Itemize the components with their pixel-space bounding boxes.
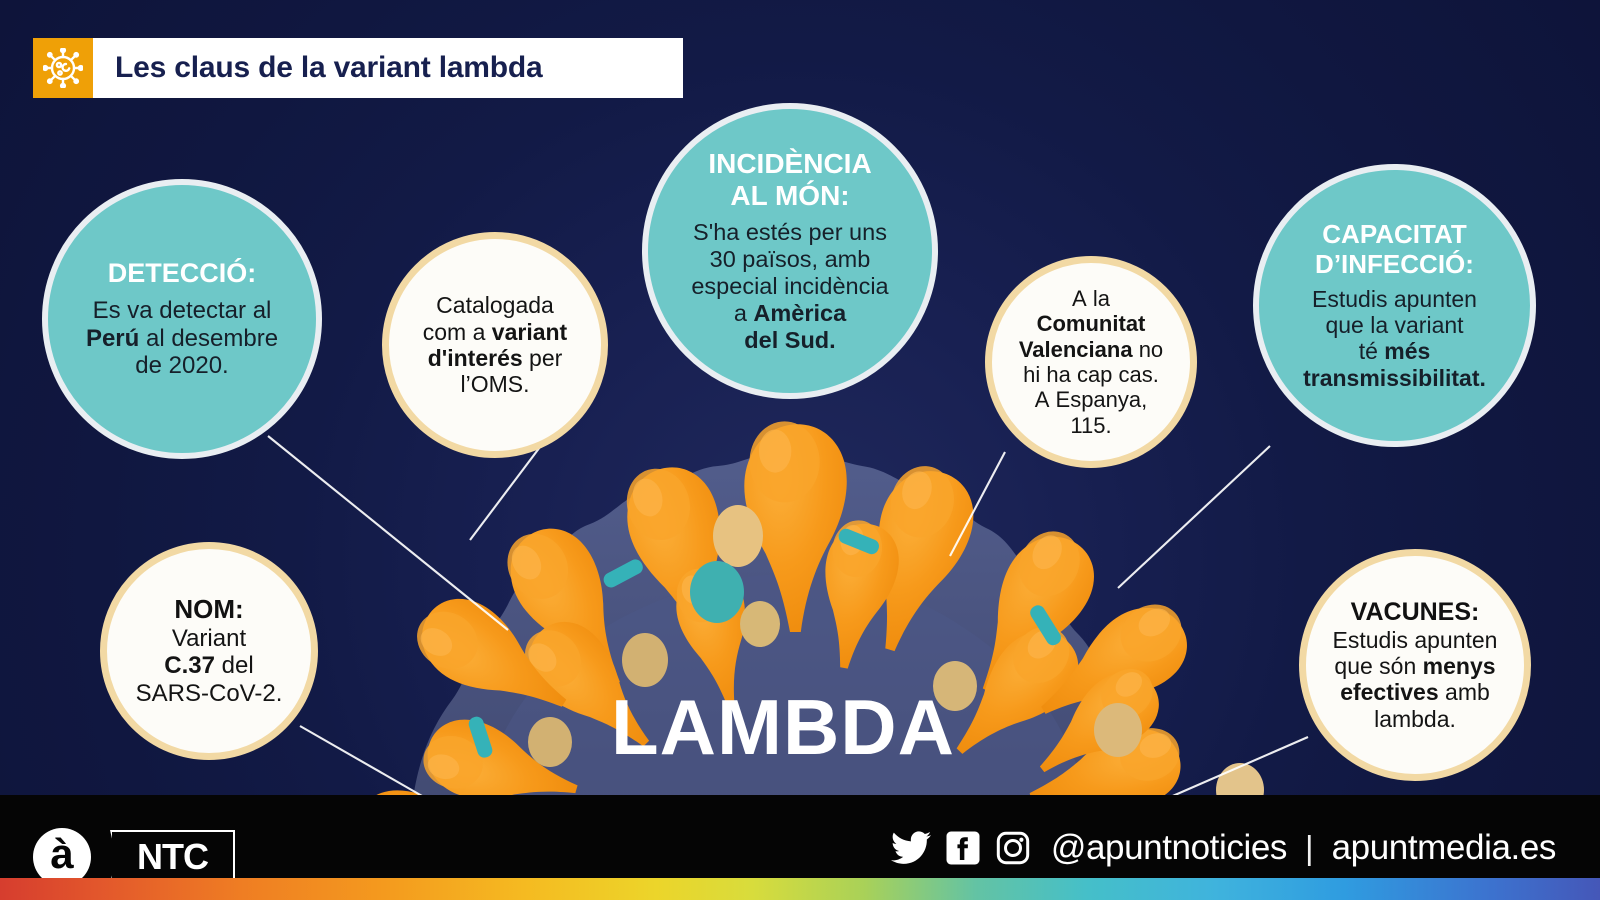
bubble-vacunes-heading: VACUNES: bbox=[1351, 598, 1480, 627]
bubble-catalogada[interactable]: Catalogadacom a variantd'interés perl’OM… bbox=[382, 232, 608, 458]
bubble-incidencia-heading: INCIDÈNCIAAL MÓN: bbox=[708, 148, 871, 212]
rainbow-strip bbox=[0, 878, 1600, 900]
bubble-comunitat-body: A laComunitatValenciana nohi ha cap cas.… bbox=[1019, 286, 1163, 438]
title-bar: Les claus de la variant lambda bbox=[33, 38, 683, 98]
bubble-deteccio[interactable]: DETECCIÓ: Es va detectar alPerú al desem… bbox=[42, 179, 322, 459]
social-links: @apuntnoticies | apuntmedia.es bbox=[891, 828, 1556, 868]
bubble-incidencia-body: S'ha estés per uns30 països, ambespecial… bbox=[691, 219, 888, 354]
social-handle[interactable]: @apuntnoticies bbox=[1045, 828, 1287, 868]
bubble-catalogada-body: Catalogadacom a variantd'interés perl’OM… bbox=[423, 292, 567, 398]
twitter-icon[interactable] bbox=[891, 831, 931, 865]
bubble-nom-heading: NOM: bbox=[174, 595, 243, 625]
bubble-capacitat-body: Estudis apuntenque la variantté méstrans… bbox=[1303, 286, 1486, 392]
bubble-deteccio-heading: DETECCIÓ: bbox=[108, 258, 257, 289]
virus-label: LAMBDA bbox=[0, 688, 1583, 766]
website-url[interactable]: apuntmedia.es bbox=[1332, 828, 1556, 868]
bubble-deteccio-body: Es va detectar alPerú al desembrede 2020… bbox=[86, 297, 278, 380]
facebook-icon[interactable] bbox=[945, 830, 981, 866]
footer-separator: | bbox=[1301, 829, 1318, 867]
instagram-icon[interactable] bbox=[995, 830, 1031, 866]
footer-bar: à NTC @apuntnoticies bbox=[0, 795, 1600, 900]
page-title: Les claus de la variant lambda bbox=[93, 38, 543, 98]
bubble-incidencia-al-mon[interactable]: INCIDÈNCIAAL MÓN: S'ha estés per uns30 p… bbox=[642, 103, 938, 399]
ntc-logo[interactable]: NTC bbox=[110, 830, 235, 884]
infographic-canvas: Les claus de la variant lambda DETECCIÓ:… bbox=[0, 0, 1600, 900]
bubble-capacitat-infeccio[interactable]: CAPACITATD’INFECCIÓ: Estudis apuntenque … bbox=[1253, 164, 1536, 447]
bubble-comunitat-valenciana[interactable]: A laComunitatValenciana nohi ha cap cas.… bbox=[985, 256, 1197, 468]
coronavirus-icon bbox=[33, 38, 93, 98]
bubble-capacitat-heading: CAPACITATD’INFECCIÓ: bbox=[1315, 220, 1474, 280]
